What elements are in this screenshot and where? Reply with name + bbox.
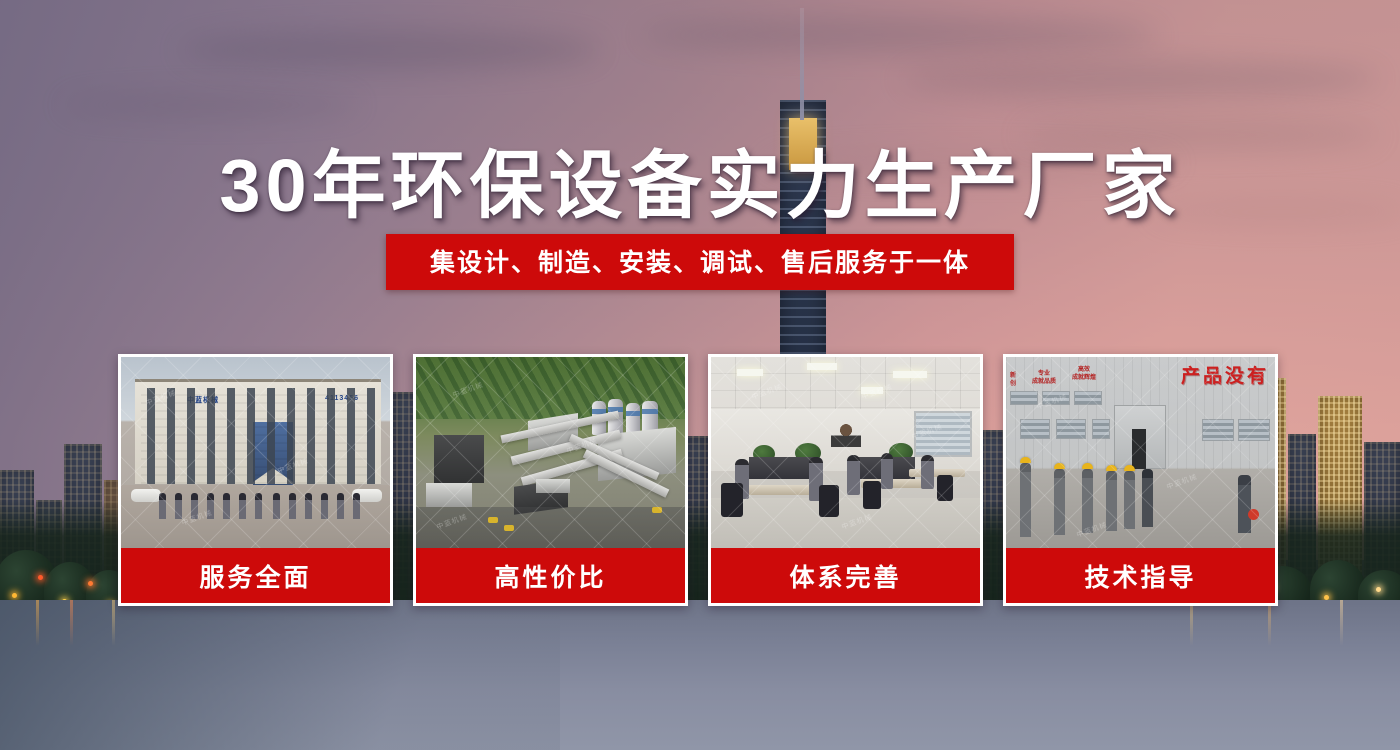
card-photo-office-interior: 中蓝机械 中蓝机械 中蓝机械 中蓝机械 <box>711 357 980 554</box>
card-caption: 技术指导 <box>1006 548 1275 603</box>
feature-card[interactable]: 中蓝机械 中蓝机械 中蓝机械 高性价比 <box>413 354 688 606</box>
river-water <box>0 600 1400 750</box>
building-signage-label: 中蓝机械 <box>187 395 219 405</box>
page-title: 30年环保设备实力生产厂家 <box>0 126 1400 233</box>
card-photo-industrial-plant: 中蓝机械 中蓝机械 中蓝机械 <box>416 357 685 554</box>
factory-wall-slogan-large: 产品没有 <box>1181 361 1269 388</box>
tower-spire <box>800 8 804 120</box>
card-caption: 高性价比 <box>416 548 685 603</box>
supervisor-figure <box>1238 475 1251 533</box>
subtitle-badge: 集设计、制造、安装、调试、售后服务于一体 <box>386 234 1014 290</box>
wall-logo-decal <box>831 421 861 447</box>
feature-card[interactable]: 中蓝机械 中蓝机械 中蓝机械 中蓝机械 体系完善 <box>708 354 983 606</box>
card-photo-office-building: 中蓝机械 4113456 <box>121 357 390 554</box>
promo-banner: 30年环保设备实力生产厂家 集设计、制造、安装、调试、售后服务于一体 中蓝机械 … <box>0 0 1400 750</box>
feature-card[interactable]: 中蓝机械 4113456 <box>118 354 393 606</box>
card-photo-workers-briefing: 产品没有 新创 专业成就品质 高效成就辉煌 <box>1006 357 1275 554</box>
building-phone-label: 4113456 <box>325 395 359 402</box>
card-caption: 服务全面 <box>121 548 390 603</box>
red-helmet <box>1248 509 1259 520</box>
feature-card-list: 中蓝机械 4113456 <box>118 354 1278 606</box>
card-caption: 体系完善 <box>711 548 980 603</box>
feature-card[interactable]: 产品没有 新创 专业成就品质 高效成就辉煌 <box>1003 354 1278 606</box>
